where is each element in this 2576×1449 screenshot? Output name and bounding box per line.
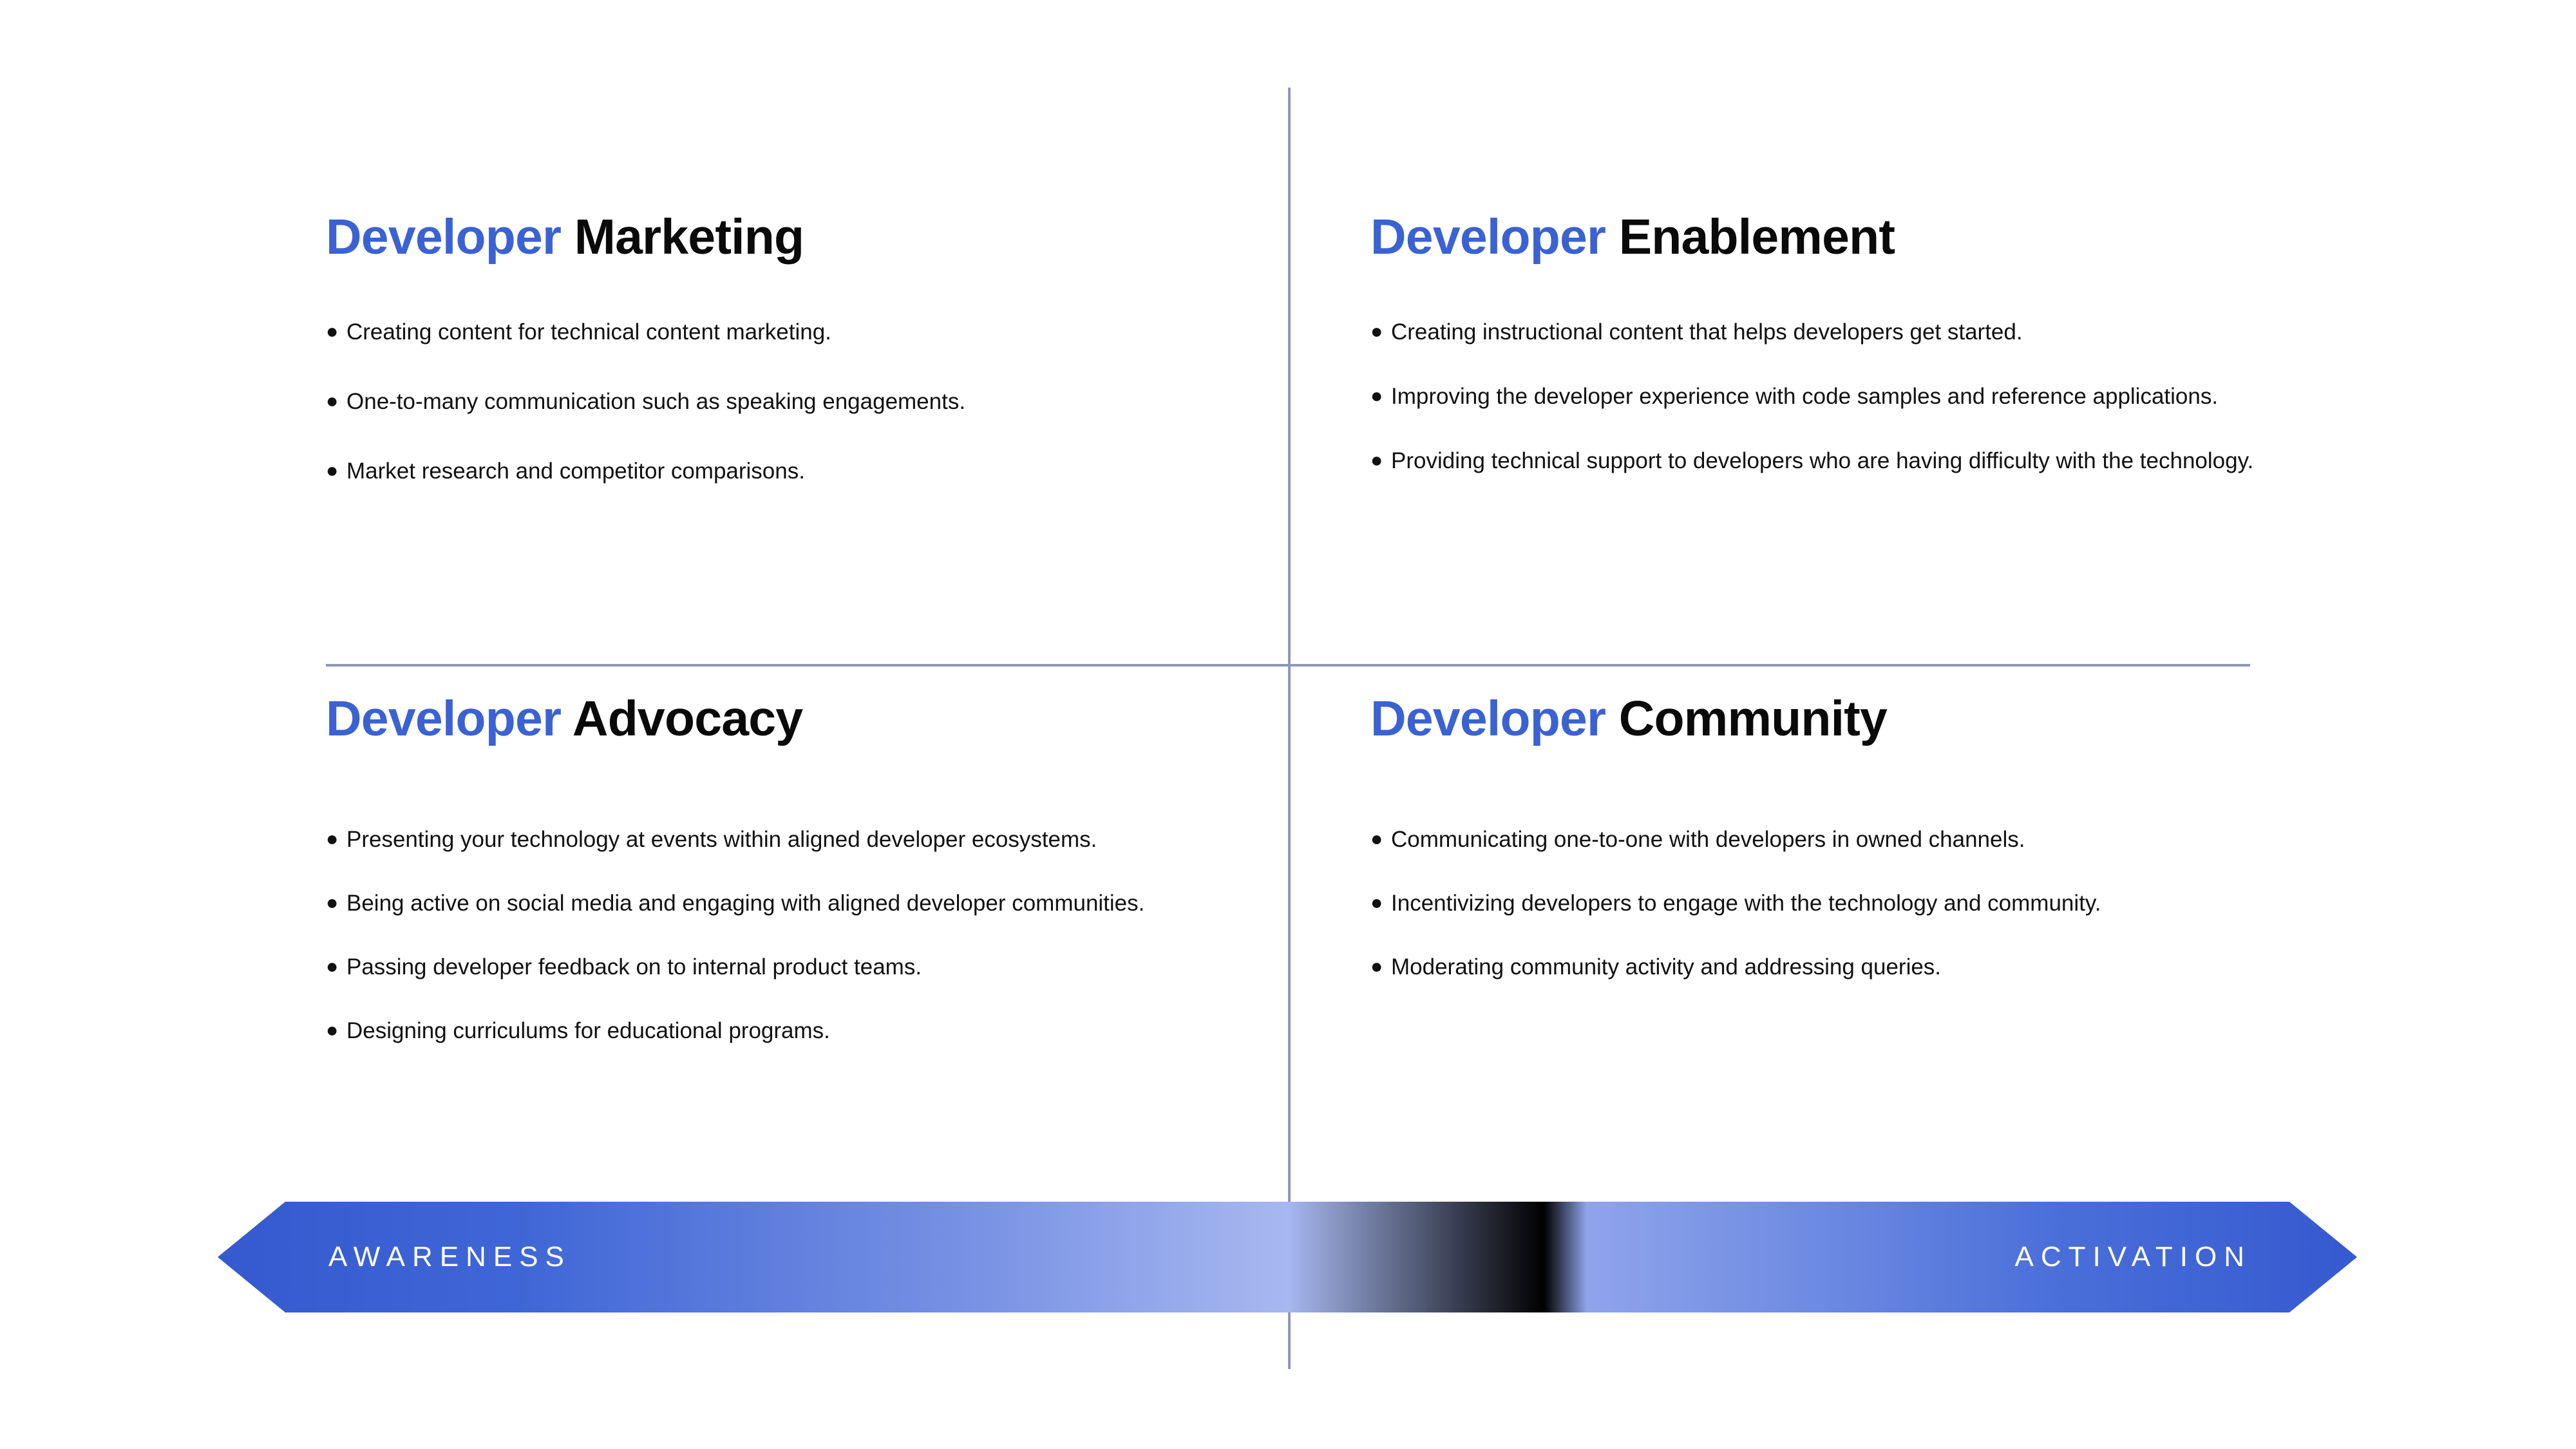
quadrant-title-accent: Developer <box>326 691 561 746</box>
list-item: ● Market research and competitor compari… <box>326 458 1253 485</box>
list-item: ● Incentivizing developers to engage wit… <box>1370 890 2530 917</box>
quadrant-title-developer-advocacy: Developer Advocacy <box>326 694 1253 744</box>
quadrant-title-developer-community: Developer Community <box>1370 694 2530 744</box>
list-item-label: Providing technical support to developer… <box>1391 448 2253 473</box>
quadrant-title-accent: Developer <box>1370 691 1605 746</box>
list-item-label: Creating content for technical content m… <box>346 319 831 345</box>
list-item-label: One-to-many communication such as speaki… <box>346 389 965 414</box>
quadrant-developer-marketing: Developer Marketing ● Creating content f… <box>326 213 1253 527</box>
list-item: ● Providing technical support to develop… <box>1370 448 2530 475</box>
diagram-canvas: Developer Marketing ● Creating content f… <box>0 0 2576 1449</box>
bullet-list-developer-community: ● Communicating one-to-one with develope… <box>1370 826 2530 981</box>
quadrant-title-main: Community <box>1619 691 1887 746</box>
bullet-list-developer-advocacy: ● Presenting your technology at events w… <box>326 826 1253 1045</box>
list-item-label: Moderating community activity and addres… <box>1391 954 1941 980</box>
quadrant-title-accent: Developer <box>326 209 561 265</box>
list-item-label: Creating instructional content that help… <box>1391 319 2023 345</box>
bullet-dot-icon: ● <box>1370 890 1383 915</box>
list-item: ● One-to-many communication such as spea… <box>326 388 1253 415</box>
bullet-dot-icon: ● <box>326 954 338 979</box>
list-item: ● Improving the developer experience wit… <box>1370 383 2530 410</box>
double-arrow-shape-icon <box>218 1202 2357 1312</box>
quadrant-title-developer-enablement: Developer Enablement <box>1370 213 2530 262</box>
list-item: ● Passing developer feedback on to inter… <box>326 954 1253 981</box>
quadrant-title-main: Enablement <box>1619 209 1895 265</box>
horizontal-divider <box>326 664 2250 667</box>
quadrant-title-developer-marketing: Developer Marketing <box>326 213 1253 262</box>
bullet-list-developer-marketing: ● Creating content for technical content… <box>326 319 1253 485</box>
list-item-label: Improving the developer experience with … <box>1391 384 2218 409</box>
bullet-dot-icon: ● <box>326 319 338 344</box>
list-item-label: Passing developer feedback on to interna… <box>346 954 922 980</box>
quadrant-developer-advocacy: Developer Advocacy ● Presenting your tec… <box>326 694 1253 1081</box>
quadrant-developer-community: Developer Community ● Communicating one-… <box>1370 694 2530 1018</box>
list-item-label: Communicating one-to-one with developers… <box>1391 827 2025 852</box>
list-item: ● Communicating one-to-one with develope… <box>1370 826 2530 853</box>
awareness-activation-arrow-banner: AWARENESS ACTIVATION <box>218 1202 2357 1312</box>
bullet-dot-icon: ● <box>326 388 338 413</box>
quadrant-title-accent: Developer <box>1370 209 1605 265</box>
list-item: ● Moderating community activity and addr… <box>1370 954 2530 981</box>
list-item-label: Designing curriculums for educational pr… <box>346 1018 830 1043</box>
list-item-label: Being active on social media and engagin… <box>346 891 1144 916</box>
bullet-list-developer-enablement: ● Creating instructional content that he… <box>1370 319 2530 475</box>
bullet-dot-icon: ● <box>326 1018 338 1043</box>
list-item-label: Presenting your technology at events wit… <box>346 827 1097 852</box>
bullet-dot-icon: ● <box>1370 383 1383 408</box>
bullet-dot-icon: ● <box>326 826 338 851</box>
list-item-label: Market research and competitor compariso… <box>346 459 805 484</box>
vertical-divider <box>1288 88 1291 1369</box>
bullet-dot-icon: ● <box>1370 954 1383 979</box>
bullet-dot-icon: ● <box>1370 826 1383 851</box>
quadrant-developer-enablement: Developer Enablement ● Creating instruct… <box>1370 213 2530 512</box>
bullet-dot-icon: ● <box>326 890 338 915</box>
list-item: ● Presenting your technology at events w… <box>326 826 1253 853</box>
bullet-dot-icon: ● <box>1370 448 1383 473</box>
list-item: ● Designing curriculums for educational … <box>326 1018 1253 1045</box>
list-item: ● Creating instructional content that he… <box>1370 319 2530 346</box>
list-item-label: Incentivizing developers to engage with … <box>1391 891 2101 916</box>
list-item: ● Being active on social media and engag… <box>326 890 1253 917</box>
quadrant-title-main: Advocacy <box>573 691 802 746</box>
list-item: ● Creating content for technical content… <box>326 319 1253 346</box>
bullet-dot-icon: ● <box>326 458 338 483</box>
quadrant-title-main: Marketing <box>574 209 804 265</box>
bullet-dot-icon: ● <box>1370 319 1383 344</box>
